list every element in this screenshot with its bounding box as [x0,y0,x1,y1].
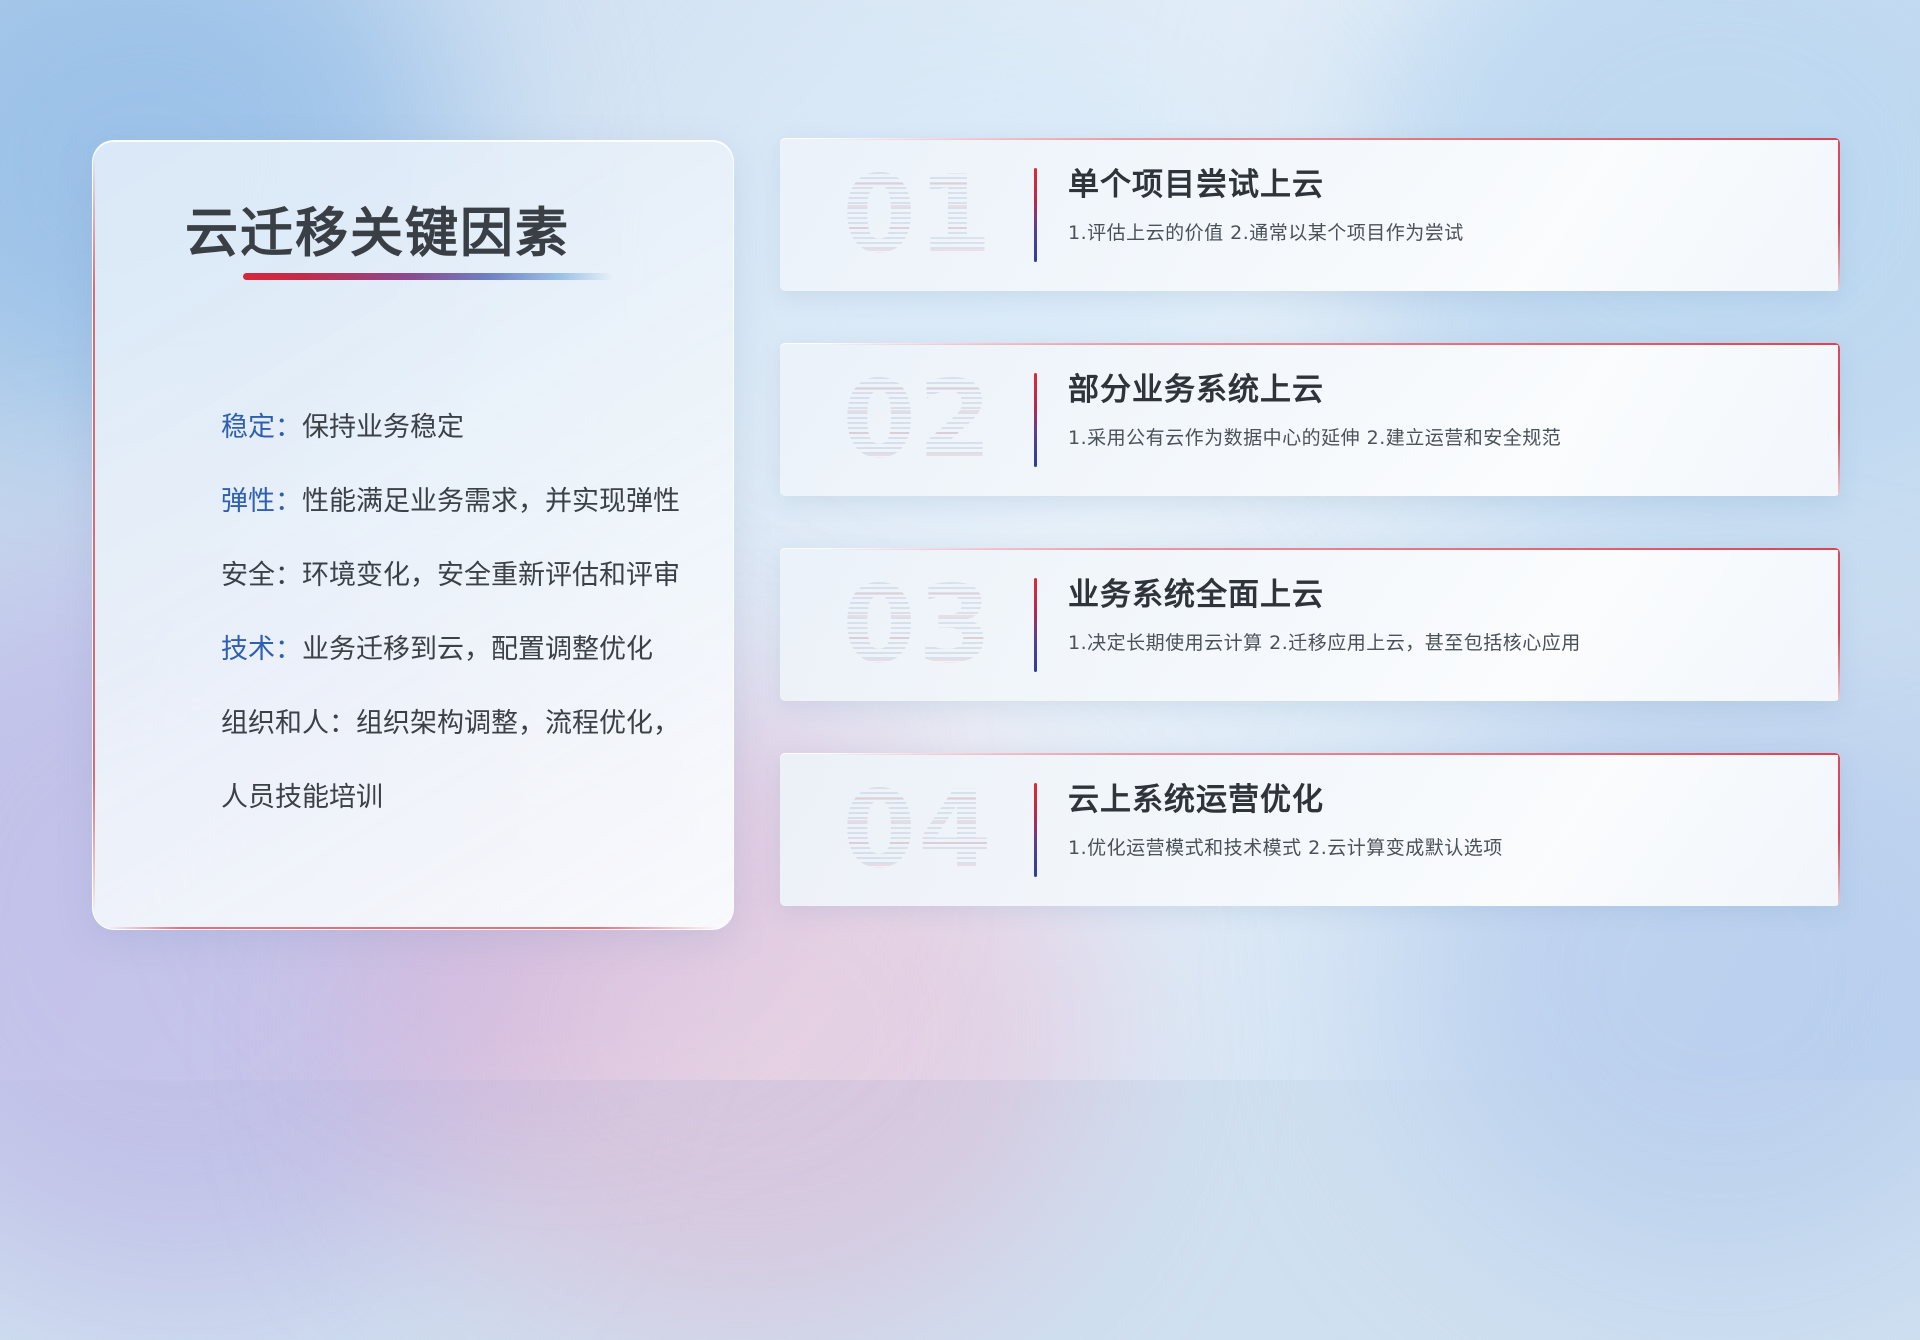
stage-card-03[interactable]: 03 03 业务系统全面上云 1.决定长期使用云计算 2.迁移应用上云，甚至包括… [780,548,1840,701]
title-underline-gradient [243,273,613,280]
factor-label: 组织和人： [221,708,356,739]
stage-card-01[interactable]: 01 01 单个项目尝试上云 1.评估上云的价值 2.通常以某个项目作为尝试 [780,138,1840,291]
stage-number-glitch-red: 04 [828,767,1008,893]
stage-card-list: 01 01 单个项目尝试上云 1.评估上云的价值 2.通常以某个项目作为尝试 0… [780,138,1840,958]
stage-card-title: 部分业务系统上云 [1068,365,1806,415]
slide-canvas: 云迁移关键因素 稳定：保持业务稳定 弹性：性能满足业务需求，并实现弹性 安全：环… [0,0,1920,1080]
factor-row: 弹性：性能满足业务需求，并实现弹性 [221,465,693,539]
factor-row: 组织和人：组织架构调整，流程优化， [221,687,693,761]
divider-bar-gradient [1034,168,1037,262]
stage-number-glitch-red: 03 [828,562,1008,688]
factor-text: 组织架构调整，流程优化， [356,708,680,739]
factor-label: 技术： [221,634,302,665]
factor-label: 稳定： [221,412,302,443]
stage-number-glitch-red: 02 [828,357,1008,483]
divider-bar-gradient [1034,373,1037,467]
factor-text: 性能满足业务需求，并实现弹性 [302,486,680,517]
stage-card-title: 单个项目尝试上云 [1068,160,1806,210]
stage-card-02[interactable]: 02 02 部分业务系统上云 1.采用公有云作为数据中心的延伸 2.建立运营和安… [780,343,1840,496]
factor-row: 技术：业务迁移到云，配置调整优化 [221,613,693,687]
factor-row: 人员技能培训 [221,761,693,835]
stage-card-body: 部分业务系统上云 1.采用公有云作为数据中心的延伸 2.建立运营和安全规范 [1068,365,1806,453]
factor-label: 安全： [221,560,302,591]
factor-row: 安全：环境变化，安全重新评估和评审 [221,539,693,613]
factor-text: 人员技能培训 [221,782,383,813]
stage-card-body: 业务系统全面上云 1.决定长期使用云计算 2.迁移应用上云，甚至包括核心应用 [1068,570,1806,658]
factor-list: 稳定：保持业务稳定 弹性：性能满足业务需求，并实现弹性 安全：环境变化，安全重新… [221,391,693,835]
key-factors-panel: 云迁移关键因素 稳定：保持业务稳定 弹性：性能满足业务需求，并实现弹性 安全：环… [92,140,734,930]
stage-card-body: 云上系统运营优化 1.优化运营模式和技术模式 2.云计算变成默认选项 [1068,775,1806,863]
stage-card-description: 1.评估上云的价值 2.通常以某个项目作为尝试 [1068,218,1806,248]
factor-row: 稳定：保持业务稳定 [221,391,693,465]
divider-bar-gradient [1034,578,1037,672]
factor-label: 弹性： [221,486,302,517]
stage-number-glitch-red: 01 [828,152,1008,278]
stage-card-description: 1.采用公有云作为数据中心的延伸 2.建立运营和安全规范 [1068,423,1806,453]
stage-card-description: 1.优化运营模式和技术模式 2.云计算变成默认选项 [1068,833,1806,863]
factor-text: 环境变化，安全重新评估和评审 [302,560,680,591]
panel-title: 云迁移关键因素 [185,191,570,267]
stage-card-title: 云上系统运营优化 [1068,775,1806,825]
factor-text: 保持业务稳定 [302,412,464,443]
stage-card-description: 1.决定长期使用云计算 2.迁移应用上云，甚至包括核心应用 [1068,628,1806,658]
factor-text: 业务迁移到云，配置调整优化 [302,634,653,665]
stage-card-title: 业务系统全面上云 [1068,570,1806,620]
stage-card-body: 单个项目尝试上云 1.评估上云的价值 2.通常以某个项目作为尝试 [1068,160,1806,248]
divider-bar-gradient [1034,783,1037,877]
stage-card-04[interactable]: 04 04 云上系统运营优化 1.优化运营模式和技术模式 2.云计算变成默认选项 [780,753,1840,906]
